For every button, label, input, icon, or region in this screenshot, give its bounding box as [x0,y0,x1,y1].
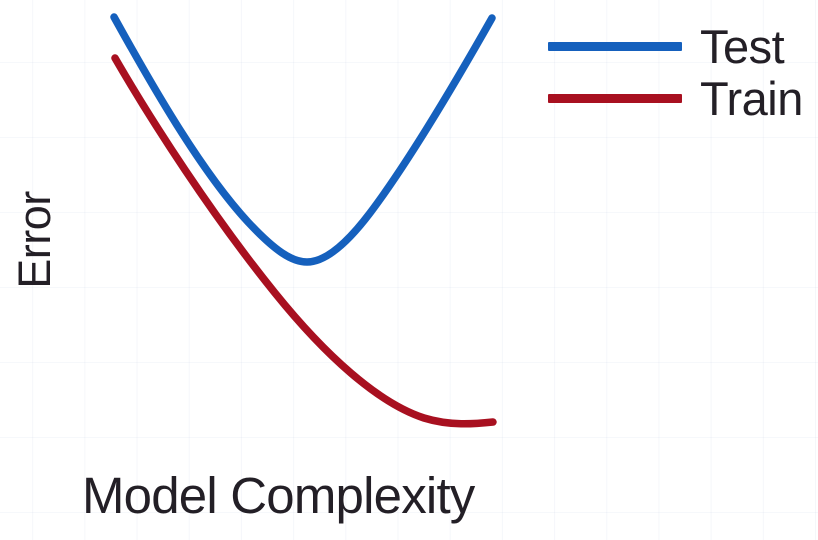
chart-legend: Test Train [548,20,814,124]
legend-item-train: Train [548,72,814,124]
legend-swatch-test [548,42,682,51]
chart-figure: Error Model Complexity Test Train [0,0,818,540]
legend-label-test: Test [700,23,784,70]
y-axis-label: Error [5,120,65,360]
legend-item-test: Test [548,20,814,72]
legend-swatch-train [548,94,682,103]
line-series-test [114,17,492,262]
legend-label-train: Train [700,75,803,122]
x-axis-label: Model Complexity [82,466,475,525]
